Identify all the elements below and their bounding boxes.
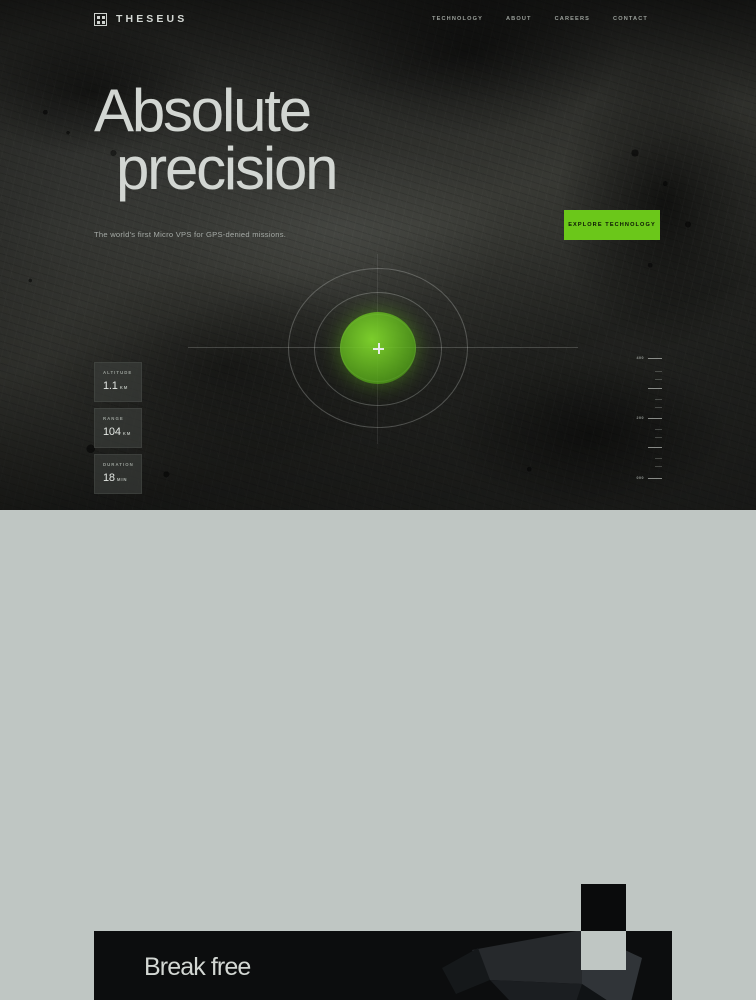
ruler-tick-minor <box>655 458 662 459</box>
ruler-tick-major <box>648 478 662 479</box>
brand-logo[interactable]: THESEUS <box>94 13 187 26</box>
brand-name: THESEUS <box>116 13 187 25</box>
crosshair-icon <box>373 343 384 354</box>
stat-number: 1.1 <box>103 380 118 392</box>
ruler-tick-minor <box>655 429 662 430</box>
ruler-tick-minor <box>655 466 662 467</box>
ruler-tick-minor <box>655 437 662 438</box>
stat-unit: KM <box>123 431 131 436</box>
nav-item-about[interactable]: ABOUT <box>506 16 532 22</box>
securing-future-section: Securing the future of unmanned systems <box>0 510 756 870</box>
stat-value: 1.1KM <box>103 380 141 392</box>
stat-value: 18MIN <box>103 472 141 484</box>
headline-line-2: precision <box>94 140 336 198</box>
stat-label: DURATION <box>103 462 141 467</box>
drone-illustration <box>432 931 672 1000</box>
nav-item-technology[interactable]: TECHNOLOGY <box>432 16 483 22</box>
ruler-tick-minor <box>655 379 662 380</box>
stat-unit: MIN <box>117 477 128 482</box>
nav-item-careers[interactable]: CAREERS <box>555 16 590 22</box>
ruler-label: 000 <box>637 476 645 480</box>
ruler-tick-minor <box>655 407 662 408</box>
stat-card-duration: DURATION 18MIN <box>94 454 142 494</box>
hero-copy: Absolute precision The world's first Mic… <box>94 82 336 239</box>
ruler-tick-minor <box>655 371 662 372</box>
targeting-reticle <box>288 268 468 428</box>
ruler-tick-minor <box>655 399 662 400</box>
ruler-tick-major <box>648 388 662 389</box>
stat-label: RANGE <box>103 416 141 421</box>
stat-label: ALTITUDE <box>103 370 141 375</box>
nav-links: TECHNOLOGY ABOUT CAREERS CONTACT <box>432 16 732 22</box>
stat-unit: KM <box>120 385 128 390</box>
main-navigation: THESEUS TECHNOLOGY ABOUT CAREERS CONTACT <box>0 0 756 38</box>
hero-section: THESEUS TECHNOLOGY ABOUT CAREERS CONTACT… <box>0 0 756 510</box>
ruler-tick-major <box>648 447 662 448</box>
black-accent-square <box>581 884 626 931</box>
headline-line-1: Absolute <box>94 77 310 144</box>
hero-subhead: The world's first Micro VPS for GPS-deni… <box>94 230 336 239</box>
stat-value: 104KM <box>103 426 141 438</box>
ruler-label: 200 <box>637 416 645 420</box>
grid-square-logo-icon <box>94 13 107 26</box>
explore-technology-button[interactable]: EXPLORE TECHNOLOGY <box>564 210 660 240</box>
stat-card-altitude: ALTITUDE 1.1KM <box>94 362 142 402</box>
ruler-tick-major <box>648 358 662 359</box>
section-notch-cutout <box>581 931 626 970</box>
stat-number: 104 <box>103 426 121 438</box>
altitude-ruler: 400 200 000 <box>628 352 662 490</box>
stat-card-range: RANGE 104KM <box>94 408 142 448</box>
page-title: Absolute precision <box>94 82 336 198</box>
ruler-tick-major <box>648 418 662 419</box>
nav-item-contact[interactable]: CONTACT <box>613 16 648 22</box>
break-free-title: Break free <box>144 953 250 982</box>
stat-number: 18 <box>103 472 115 484</box>
landing-page: THESEUS TECHNOLOGY ABOUT CAREERS CONTACT… <box>0 0 756 1000</box>
hero-stats: ALTITUDE 1.1KM RANGE 104KM DURATION 18MI… <box>94 362 142 494</box>
ruler-label: 400 <box>637 356 645 360</box>
